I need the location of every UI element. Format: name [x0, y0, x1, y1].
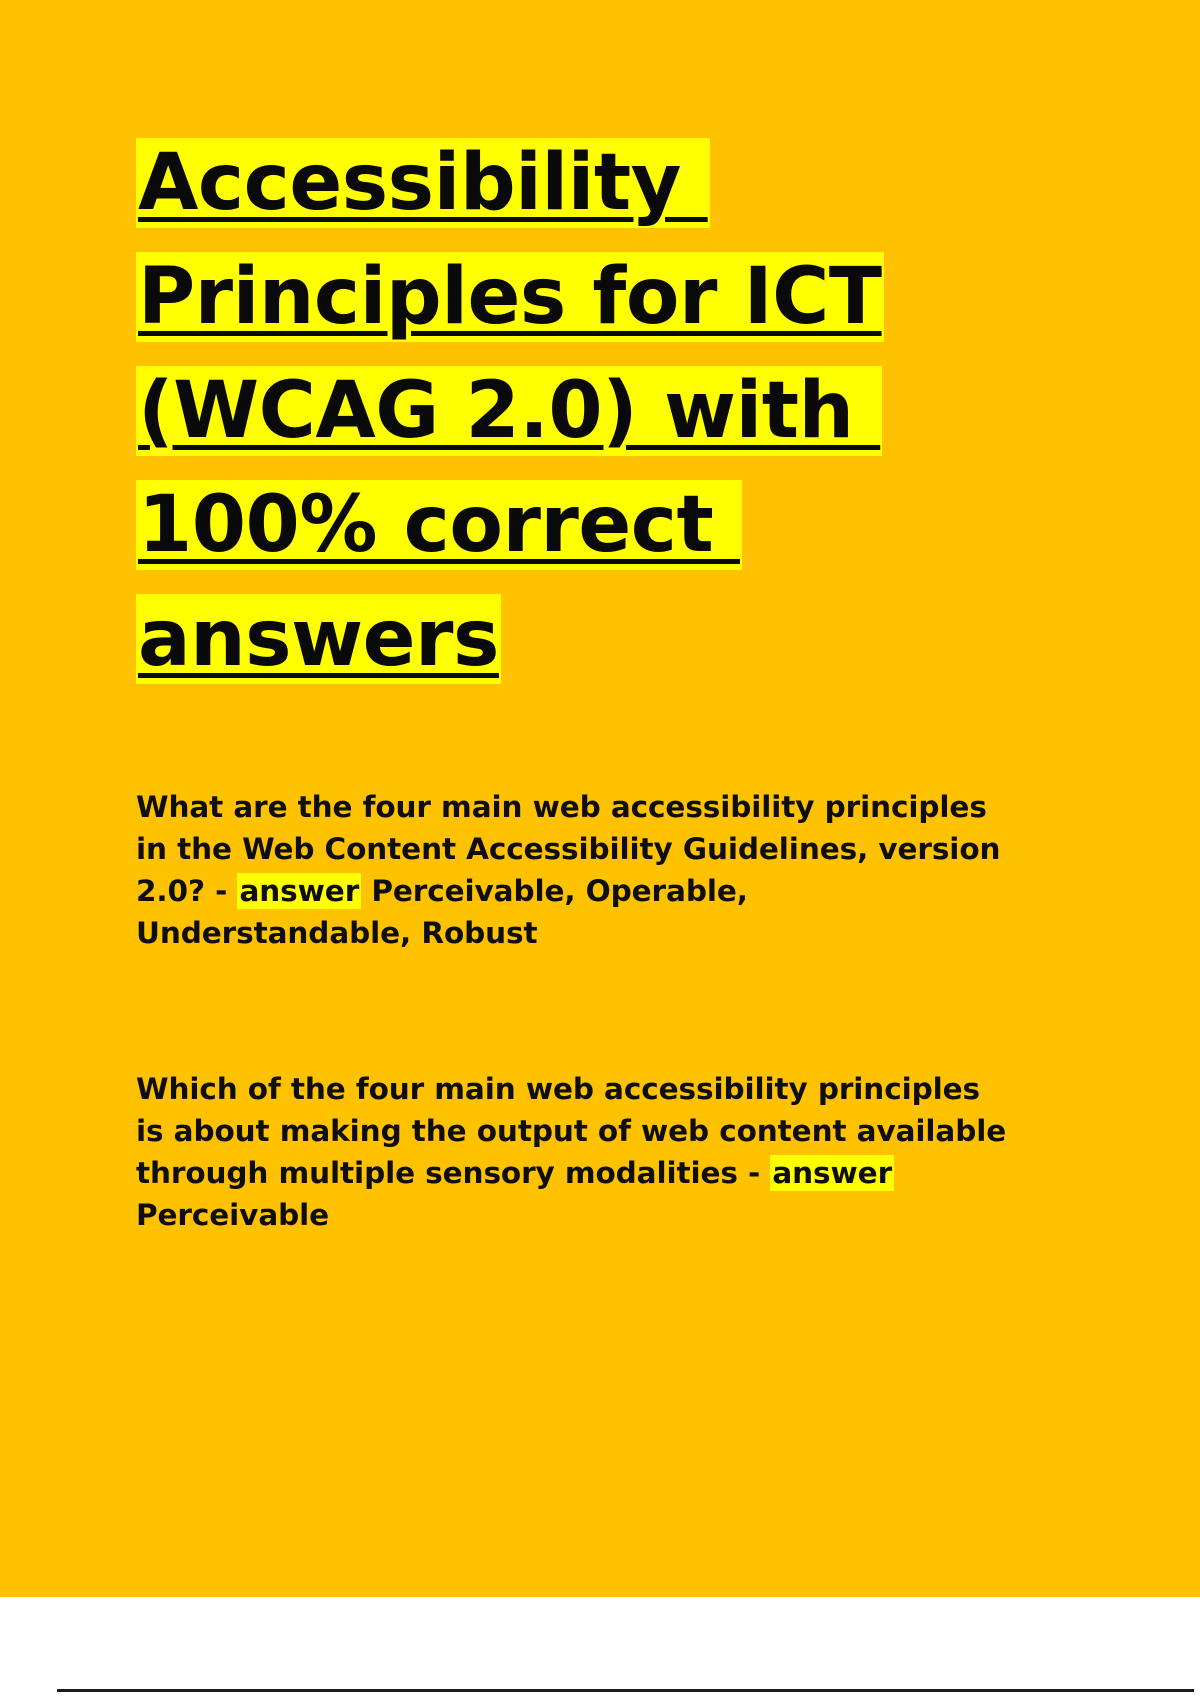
title-line-1-text: Accessibility [136, 138, 710, 228]
title-line-2-text: Principles for ICT [136, 252, 884, 342]
qa-item-2-answer: Perceivable [136, 1198, 329, 1232]
bottom-white-strip [0, 1597, 1200, 1700]
qa-item-1-answer-tag: answer [237, 873, 361, 909]
page-title: Accessibility Principles for ICT (WCAG 2… [136, 126, 1036, 696]
title-line-1: Accessibility [136, 126, 1036, 240]
qa-item-1: What are the four main web accessibility… [136, 786, 1016, 954]
title-line-4-text: 100% correct [136, 480, 742, 570]
title-line-5: answers [136, 582, 1036, 696]
title-line-2: Principles for ICT [136, 240, 1036, 354]
document-surface: Accessibility Principles for ICT (WCAG 2… [0, 0, 1200, 1597]
title-line-4: 100% correct [136, 468, 1036, 582]
qa-item-2-answer-tag: answer [770, 1155, 894, 1191]
title-line-3-text: (WCAG 2.0) with [136, 366, 882, 456]
qa-item-2-paragraph: Which of the four main web accessibility… [136, 1068, 1016, 1236]
document-page: Accessibility Principles for ICT (WCAG 2… [0, 0, 1200, 1700]
title-line-3: (WCAG 2.0) with [136, 354, 1036, 468]
title-line-5-text: answers [136, 594, 501, 684]
qa-item-1-paragraph: What are the four main web accessibility… [136, 786, 1016, 954]
bottom-divider-rule [57, 1689, 1194, 1692]
qa-item-2: Which of the four main web accessibility… [136, 1068, 1016, 1236]
